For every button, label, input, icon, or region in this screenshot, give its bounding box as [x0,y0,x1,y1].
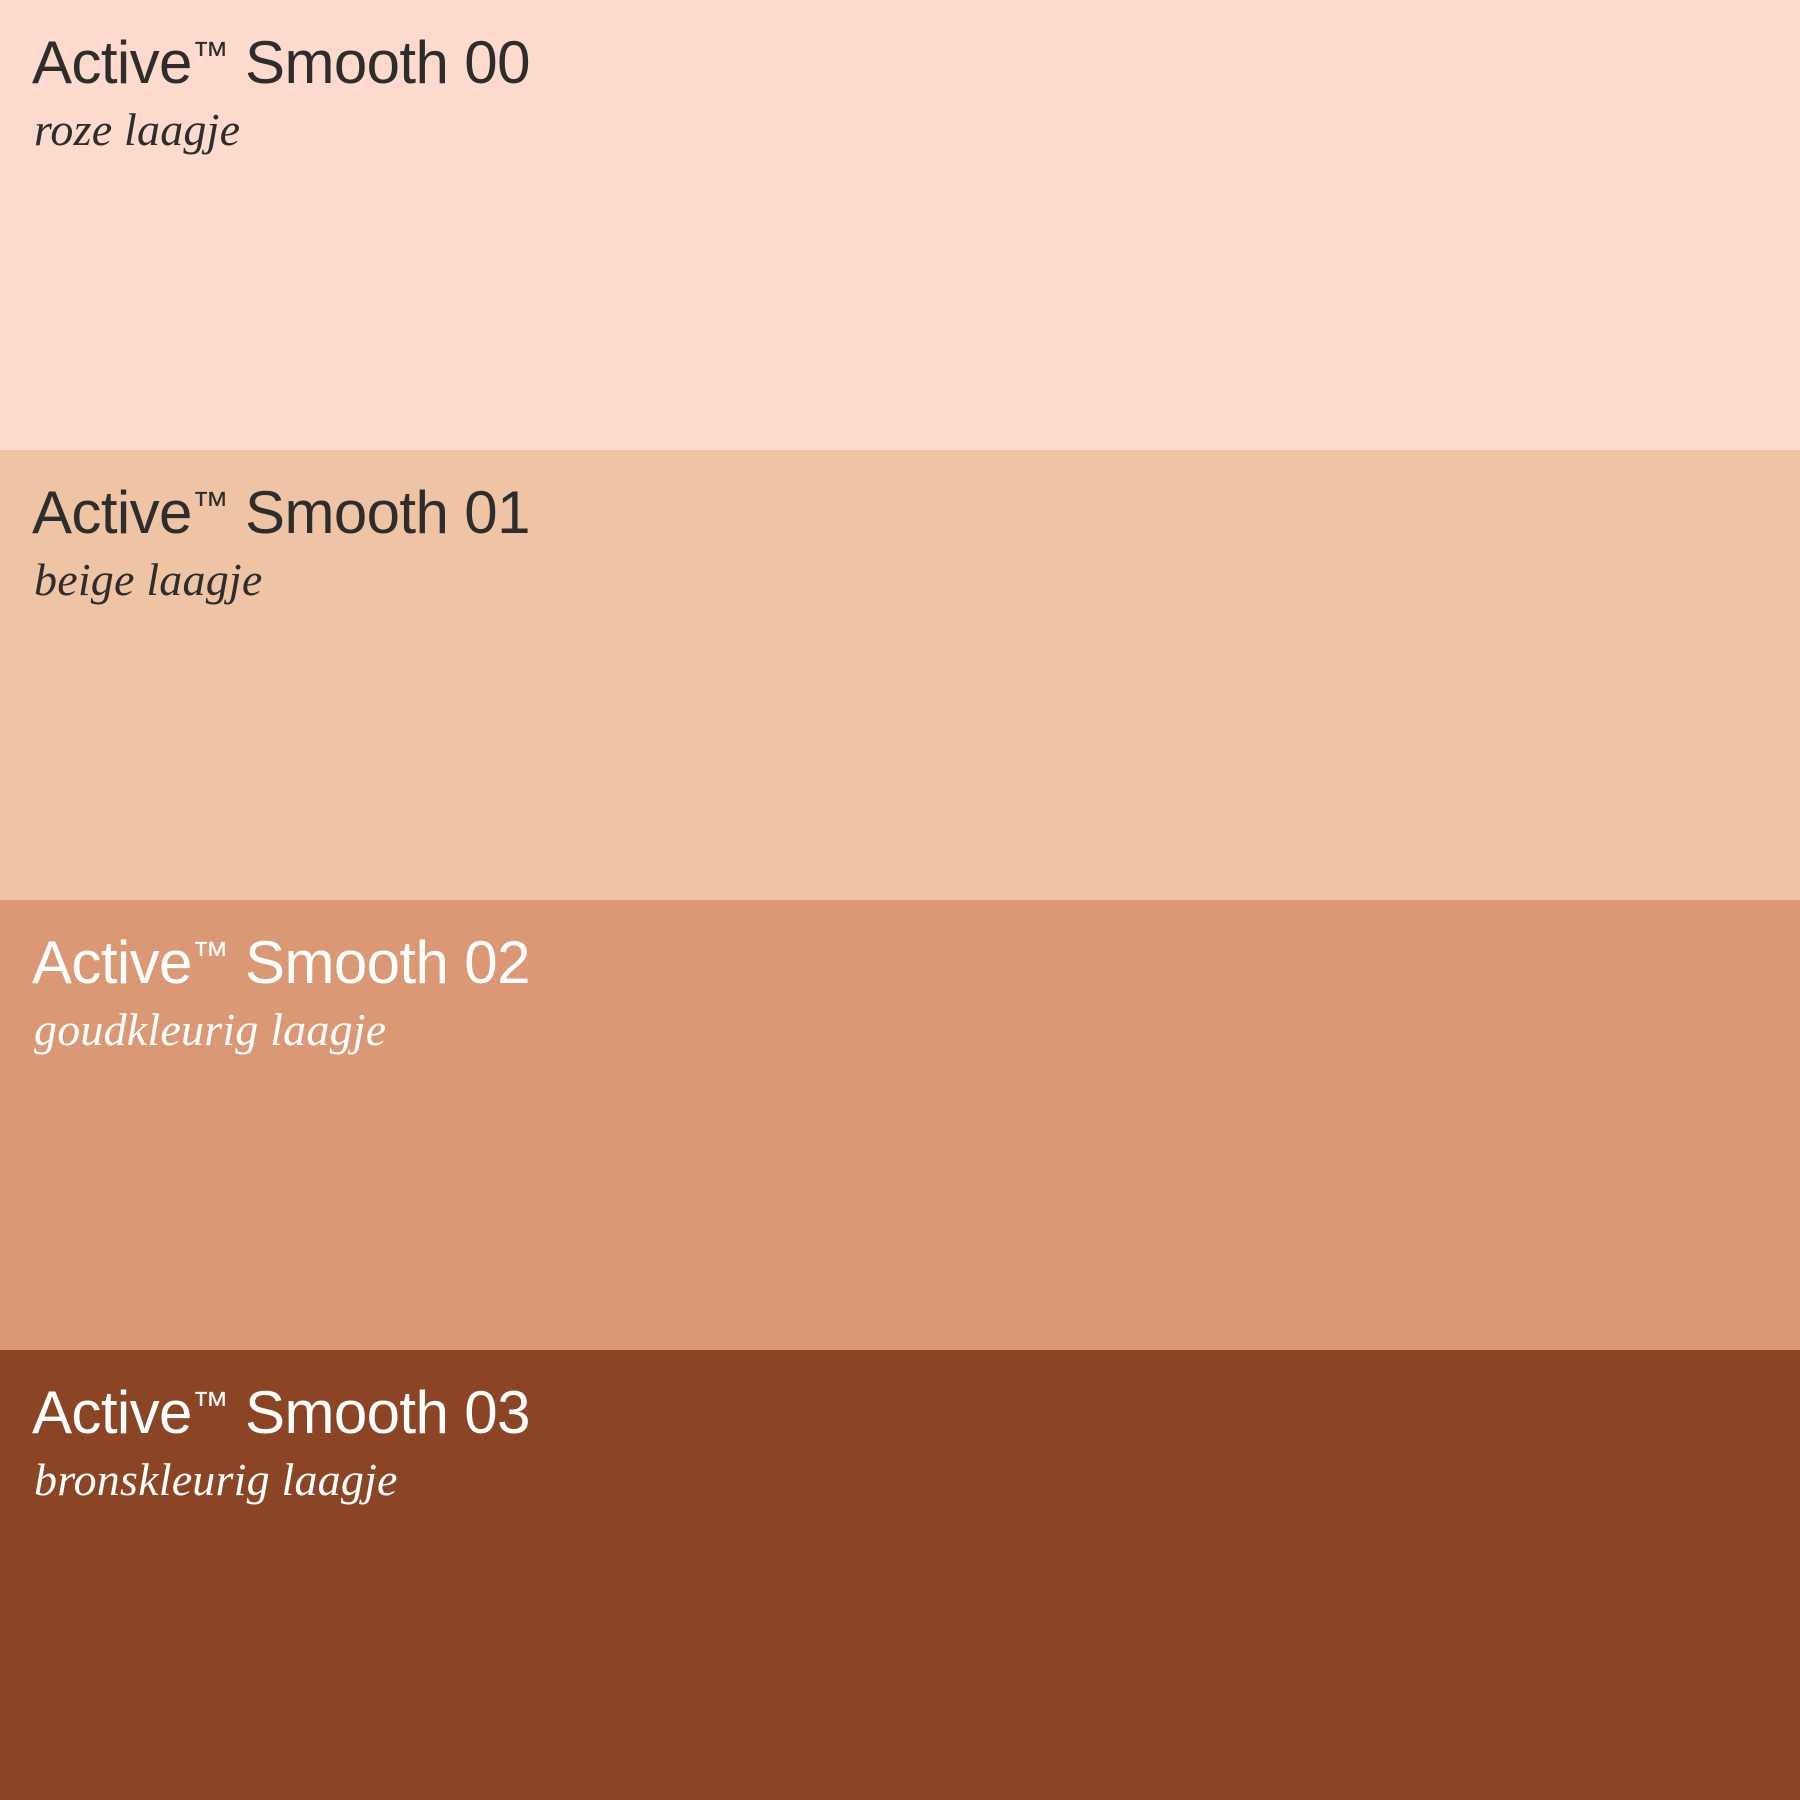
swatch-title: Active™ Smooth 01 [32,482,1800,543]
swatch-row[interactable]: Active™ Smooth 03 bronskleurig laagje [0,1350,1800,1800]
swatch-row[interactable]: Active™ Smooth 02 goudkleurig laagje [0,900,1800,1350]
swatch-row[interactable]: Active™ Smooth 01 beige laagje [0,450,1800,900]
swatch-subtitle: roze laagje [34,103,1800,157]
trademark-icon: ™ [192,1383,229,1425]
swatch-title: Active™ Smooth 03 [32,1382,1800,1443]
swatch-subtitle: beige laagje [34,553,1800,607]
swatch-subtitle: goudkleurig laagje [34,1003,1800,1057]
trademark-icon: ™ [192,933,229,975]
swatch-row[interactable]: Active™ Smooth 00 roze laagje [0,0,1800,450]
swatch-title: Active™ Smooth 00 [32,32,1800,93]
trademark-icon: ™ [192,33,229,75]
swatch-subtitle: bronskleurig laagje [34,1453,1800,1507]
trademark-icon: ™ [192,483,229,525]
shade-palette: Active™ Smooth 00 roze laagje Active™ Sm… [0,0,1800,1800]
swatch-title: Active™ Smooth 02 [32,932,1800,993]
